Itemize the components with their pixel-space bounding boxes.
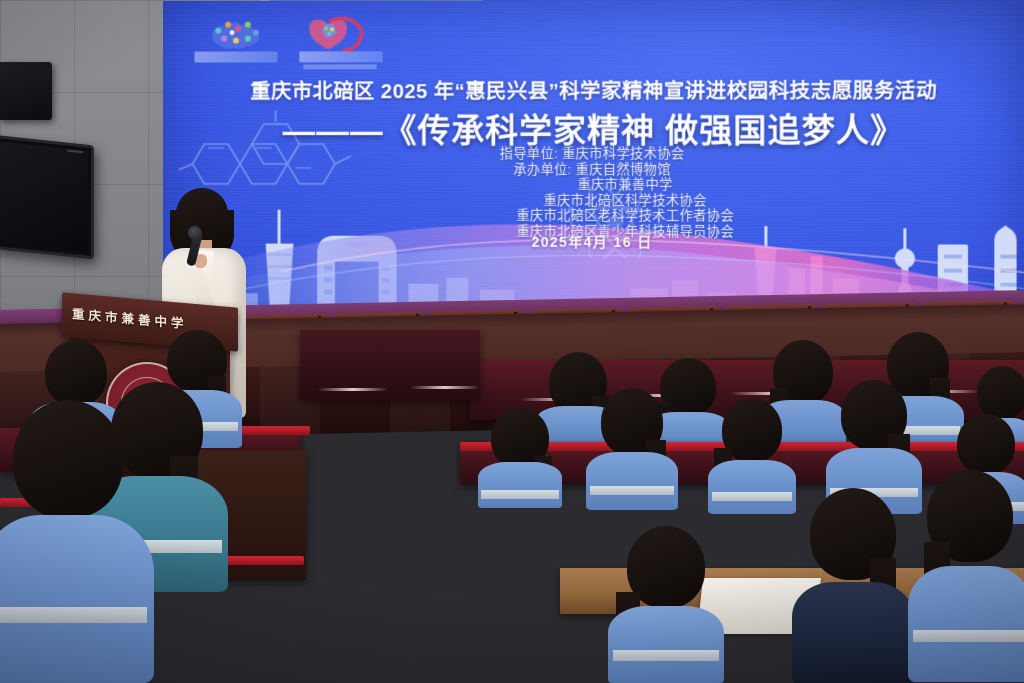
organizer-row: 指导单位: 重庆市科学技术协会 xyxy=(163,146,1024,162)
student xyxy=(608,526,724,683)
uniform-stripe xyxy=(913,630,1024,642)
wall-mounted-monitor xyxy=(0,135,94,260)
student-uniform xyxy=(792,582,914,683)
organizer-label: 承办单位: xyxy=(513,162,571,178)
student xyxy=(792,488,914,683)
bench-highlight xyxy=(318,388,388,391)
student xyxy=(908,470,1024,682)
organizer-value: 重庆自然博物馆 xyxy=(576,162,671,177)
organizer-value: 重庆市科学技术协会 xyxy=(562,146,684,161)
uniform-stripe xyxy=(613,650,720,661)
monitor-screen xyxy=(0,141,88,252)
student-head xyxy=(957,414,1015,474)
uniform-stripe xyxy=(481,490,558,499)
organizer-row: 承办单位: 重庆自然博物馆 xyxy=(163,162,1024,178)
student-uniform xyxy=(708,460,796,514)
uniform-stripe xyxy=(712,492,793,501)
organizer-value: 重庆市兼善中学 xyxy=(577,177,672,192)
organizer-row: 重庆市北碚区科学技术协会 xyxy=(163,193,1024,209)
student xyxy=(478,408,562,508)
event-title-main: 重庆市北碚区 2025 年“惠民兴县”科学家精神宣讲进校园科技志愿服务活动 xyxy=(163,73,1024,104)
student-uniform xyxy=(586,452,678,510)
student xyxy=(586,388,678,510)
student-uniform xyxy=(0,515,154,683)
student-uniform xyxy=(908,566,1024,682)
led-presentation-screen: E=mc2 xyxy=(163,0,1024,313)
uniform-stripe xyxy=(0,607,147,623)
student-audience xyxy=(0,330,1024,683)
ceiling-speaker-icon xyxy=(0,62,52,120)
student-head xyxy=(977,366,1024,420)
organizer-row: 重庆市兼善中学 xyxy=(163,177,1024,193)
organizer-label: 指导单位: xyxy=(500,146,558,162)
bench-highlight xyxy=(410,386,480,389)
led-text-block: 重庆市北碚区 2025 年“惠民兴县”科学家精神宣讲进校园科技志愿服务活动 ——… xyxy=(163,0,1024,313)
student xyxy=(0,400,154,683)
organizer-value: 重庆市北碚区老科学技术工作者协会 xyxy=(516,208,734,223)
student-uniform xyxy=(608,606,724,683)
microphone-head xyxy=(188,226,202,240)
student-uniform xyxy=(478,462,562,508)
event-date: 2025年4月 16 日 xyxy=(163,232,1024,253)
uniform-stripe xyxy=(590,486,675,495)
organizer-list: 指导单位: 重庆市科学技术协会 承办单位: 重庆自然博物馆 重庆市兼善中学 重庆… xyxy=(163,146,1024,240)
auditorium-photo: E=mc2 xyxy=(0,0,1024,683)
student-head xyxy=(13,400,123,518)
student xyxy=(708,398,796,514)
organizer-value: 重庆市北碚区科学技术协会 xyxy=(543,193,706,208)
organizer-row: 重庆市北碚区老科学技术工作者协会 xyxy=(163,208,1024,224)
event-title-subtitle: ———《传承科学家精神 做强国追梦人》 xyxy=(163,104,1024,152)
